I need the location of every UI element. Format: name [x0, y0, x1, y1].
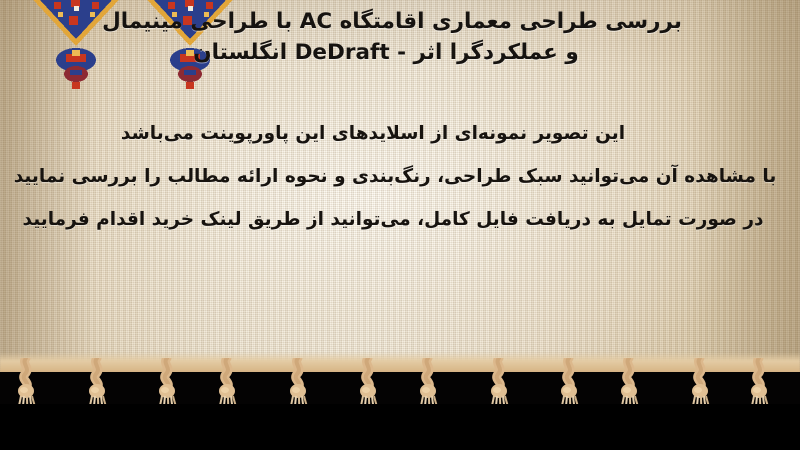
slide-title-line-1: بررسی طراحی معماری اقامتگاه AC با طراحی … [38, 6, 758, 37]
slide-body-line-2: با مشاهده آن می‌توانید سبک طراحی، رنگ‌بن… [0, 155, 800, 198]
slide-title: بررسی طراحی معماری اقامتگاه AC با طراحی … [38, 6, 758, 68]
slide-bottom-bar [0, 404, 800, 450]
slide-body-line-3: در صورت تمایل به دریافت فایل کامل، می‌تو… [0, 198, 800, 241]
slide-body: این تصویر نمونه‌ای از اسلایدهای این پاور… [0, 112, 800, 241]
presentation-slide: بررسی طراحی معماری اقامتگاه AC با طراحی … [0, 0, 800, 450]
slide-title-line-2: و عملکردگرا اثر - DeDraft انگلستان [38, 37, 758, 68]
slide-body-line-1: این تصویر نمونه‌ای از اسلایدهای این پاور… [0, 112, 800, 155]
